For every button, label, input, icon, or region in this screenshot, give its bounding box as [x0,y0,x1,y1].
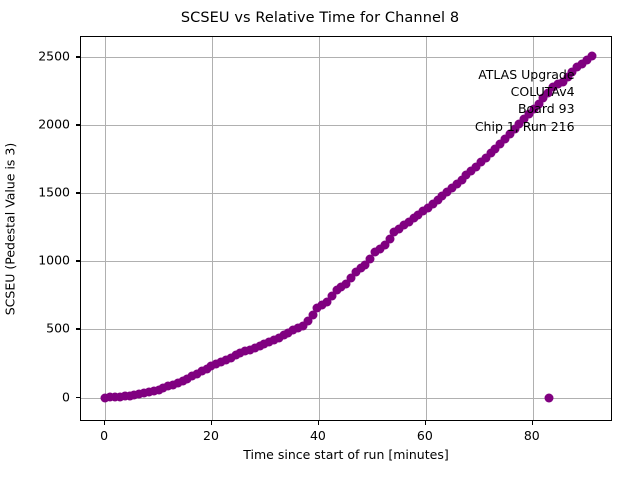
x-tick-label: 60 [417,428,433,443]
annotation-line: Board 93 [0,100,575,117]
data-point [587,52,596,61]
x-tick-mark [532,421,533,425]
annotation-line: ATLAS Upgrade [0,66,575,83]
y-tick-label: 1000 [4,253,70,268]
chart-figure: SCSEU vs Relative Time for Channel 8 SCS… [0,0,640,480]
x-tick-mark [104,421,105,425]
x-tick-label: 40 [310,428,326,443]
y-tick-mark [76,56,80,57]
gridline-horizontal [81,193,611,194]
chart-title: SCSEU vs Relative Time for Channel 8 [0,10,640,26]
annotation-line: COLUTAv4 [0,83,575,100]
x-tick-mark [425,421,426,425]
gridline-horizontal [81,57,611,58]
y-tick-label: 2500 [4,49,70,64]
data-point [544,393,553,402]
gridline-horizontal [81,261,611,262]
y-tick-mark [76,328,80,329]
annotation-line: Chip 1, Run 216 [0,118,575,135]
y-tick-label: 1500 [4,185,70,200]
y-tick-mark [76,397,80,398]
gridline-horizontal [81,398,611,399]
x-tick-label: 20 [203,428,219,443]
y-tick-mark [76,192,80,193]
chart-annotation: ATLAS UpgradeCOLUTAv4Board 93Chip 1, Run… [0,66,575,135]
y-tick-mark [76,124,80,125]
y-axis-label: SCSEU (Pedestal Value is 3) [3,142,18,315]
x-tick-label: 80 [524,428,540,443]
y-tick-mark [76,260,80,261]
y-tick-label: 0 [4,389,70,404]
x-tick-label: 0 [100,428,108,443]
x-tick-mark [211,421,212,425]
x-tick-mark [318,421,319,425]
y-tick-label: 2000 [4,117,70,132]
y-tick-label: 500 [4,321,70,336]
gridline-horizontal [81,329,611,330]
x-axis-label: Time since start of run [minutes] [80,447,612,462]
